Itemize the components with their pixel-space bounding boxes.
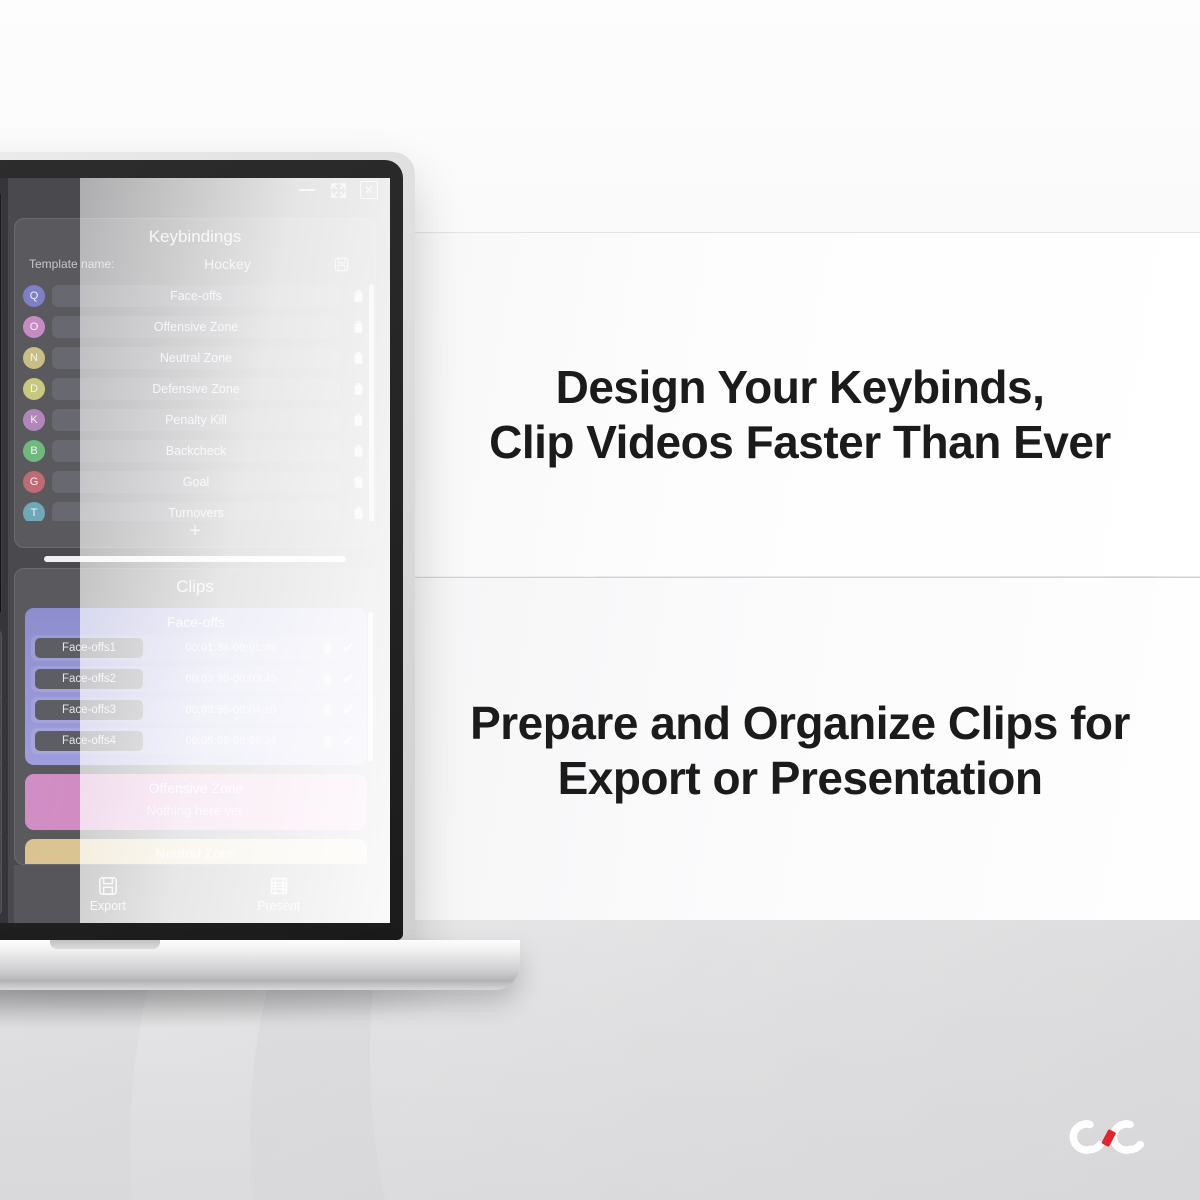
close-icon[interactable]: ✕ <box>358 180 380 200</box>
timeline-panel[interactable]: :06:00 Powe <box>0 628 2 917</box>
key-badge[interactable]: D <box>23 378 45 400</box>
key-badge[interactable]: O <box>23 316 45 338</box>
clip-timecode: 00:03:30-00:03:45 <box>147 673 315 685</box>
trash-icon[interactable] <box>347 351 369 365</box>
key-badge[interactable]: B <box>23 440 45 462</box>
keybinding-row[interactable]: KPenalty Kill <box>23 404 369 435</box>
keybinding-row[interactable]: GGoal <box>23 466 369 497</box>
keybindings-list[interactable]: QFace-offsOOffensive ZoneNNeutral ZoneDD… <box>15 280 375 521</box>
timeline-rows <box>0 663 1 916</box>
clip-name[interactable]: Face-offs4 <box>35 731 143 751</box>
trash-icon[interactable] <box>319 672 336 686</box>
side-panel: ✕ Keybindings Template name: Hockey <box>8 178 390 923</box>
timeline-row[interactable] <box>0 663 1 697</box>
clip-group[interactable]: Face-offsFace-offs100:01:34-00:01:49✔Fac… <box>25 608 367 765</box>
keybinding-label[interactable]: Neutral Zone <box>52 347 340 369</box>
clips-scrollbar[interactable] <box>368 612 373 762</box>
save-template-icon[interactable] <box>321 257 361 272</box>
app-window: :06:00 Powe <box>0 178 390 923</box>
clip-row[interactable]: Face-offs400:05:09-00:05:24✔ <box>31 728 361 754</box>
laptop-shadow <box>0 990 520 1030</box>
clip-group-title: Face-offs <box>31 612 361 635</box>
template-name-value[interactable]: Hockey <box>134 256 321 272</box>
laptop-bezel: :06:00 Powe <box>0 160 403 940</box>
close-glyph: ✕ <box>364 184 374 196</box>
film-strip-icon <box>269 876 289 896</box>
keybinding-row[interactable]: BBackcheck <box>23 435 369 466</box>
check-icon[interactable]: ✔ <box>340 638 357 658</box>
clip-row[interactable]: Face-offs100:01:34-00:01:49✔ <box>31 635 361 661</box>
key-badge[interactable]: N <box>23 347 45 369</box>
cc-logo <box>1060 1110 1152 1164</box>
clips-panel: Clips Face-offsFace-offs100:01:34-00:01:… <box>14 568 376 865</box>
bottom-action-bar: Export Present <box>14 865 376 923</box>
key-badge[interactable]: T <box>23 502 45 522</box>
trash-icon[interactable] <box>347 475 369 489</box>
clips-title: Clips <box>15 569 375 604</box>
minimize-icon[interactable] <box>296 180 318 200</box>
timeline-row[interactable] <box>0 765 1 799</box>
laptop-lid: :06:00 Powe <box>0 152 415 952</box>
keybinding-row[interactable]: NNeutral Zone <box>23 342 369 373</box>
laptop-screen: :06:00 Powe <box>0 178 390 923</box>
add-keybinding-button[interactable]: + <box>15 521 375 547</box>
clip-group-title: Neutral Zone <box>31 843 361 864</box>
video-timeline-column: :06:00 Powe <box>0 178 8 923</box>
template-name-label: Template name: <box>29 257 134 271</box>
headline-secondary: Prepare and Organize Clips for Export or… <box>420 696 1180 806</box>
clips-list[interactable]: Face-offsFace-offs100:01:34-00:01:49✔Fac… <box>15 604 375 864</box>
clip-group[interactable]: Neutral Zone <box>25 839 367 864</box>
keybinding-label[interactable]: Penalty Kill <box>52 409 340 431</box>
clip-timecode: 00:05:09-00:05:24 <box>147 735 315 747</box>
present-button[interactable]: Present <box>257 876 300 913</box>
keybinding-label[interactable]: Backcheck <box>52 440 340 462</box>
trash-icon[interactable] <box>347 289 369 303</box>
keybinding-label[interactable]: Offensive Zone <box>52 316 340 338</box>
trash-icon[interactable] <box>319 734 336 748</box>
clip-name[interactable]: Face-offs1 <box>35 638 143 658</box>
timeline-row[interactable] <box>0 697 1 731</box>
trash-icon[interactable] <box>347 506 369 520</box>
trash-icon[interactable] <box>347 444 369 458</box>
horizontal-scrollbar[interactable] <box>44 556 346 562</box>
clip-group-title: Offensive Zone <box>31 778 361 801</box>
maximize-icon[interactable] <box>327 180 349 200</box>
key-badge[interactable]: Q <box>23 285 45 307</box>
timeline-row[interactable] <box>0 799 1 833</box>
keybindings-panel: Keybindings Template name: Hockey <box>14 218 376 548</box>
check-icon[interactable]: ✔ <box>340 731 357 751</box>
key-badge[interactable]: K <box>23 409 45 431</box>
keybinding-label[interactable]: Goal <box>52 471 340 493</box>
check-icon[interactable]: ✔ <box>340 669 357 689</box>
keybinding-row[interactable]: QFace-offs <box>23 280 369 311</box>
trash-icon[interactable] <box>347 320 369 334</box>
trash-icon[interactable] <box>319 703 336 717</box>
keybinding-label[interactable]: Face-offs <box>52 285 340 307</box>
key-badge[interactable]: G <box>23 471 45 493</box>
clip-group[interactable]: Offensive ZoneNothing here yet. <box>25 774 367 830</box>
trash-icon[interactable] <box>347 382 369 396</box>
timeline-row[interactable] <box>0 731 1 765</box>
clip-row[interactable]: Face-offs200:03:30-00:03:45✔ <box>31 666 361 692</box>
laptop-base-notch <box>50 940 160 949</box>
keybinding-row[interactable]: OOffensive Zone <box>23 311 369 342</box>
clip-timecode: 00:03:55-00:04:10 <box>147 704 315 716</box>
keybinding-row[interactable]: TTurnovers <box>23 497 369 521</box>
timeline-row[interactable] <box>0 833 1 867</box>
present-label: Present <box>257 899 300 913</box>
keybinding-label[interactable]: Defensive Zone <box>52 378 340 400</box>
keybinding-label[interactable]: Turnovers <box>52 502 340 522</box>
keybindings-scrollbar[interactable] <box>369 284 374 521</box>
headline-primary: Design Your Keybinds, Clip Videos Faster… <box>420 360 1180 470</box>
clip-row[interactable]: Face-offs300:03:55-00:04:10✔ <box>31 697 361 723</box>
export-label: Export <box>90 899 126 913</box>
trash-icon[interactable] <box>347 413 369 427</box>
check-icon[interactable]: ✔ <box>340 700 357 720</box>
clip-group-empty: Nothing here yet. <box>31 801 361 824</box>
clip-name[interactable]: Face-offs2 <box>35 669 143 689</box>
laptop-mockup: :06:00 Powe <box>0 152 550 1012</box>
keybindings-title: Keybindings <box>15 219 375 254</box>
video-player[interactable] <box>0 188 2 618</box>
trash-icon[interactable] <box>319 641 336 655</box>
clip-timecode: 00:01:34-00:01:49 <box>147 642 315 654</box>
clip-name[interactable]: Face-offs3 <box>35 700 143 720</box>
window-controls: ✕ <box>296 180 380 200</box>
template-row: Template name: Hockey <box>15 254 375 280</box>
save-icon <box>98 876 118 896</box>
export-button[interactable]: Export <box>90 876 126 913</box>
keybinding-row[interactable]: DDefensive Zone <box>23 373 369 404</box>
